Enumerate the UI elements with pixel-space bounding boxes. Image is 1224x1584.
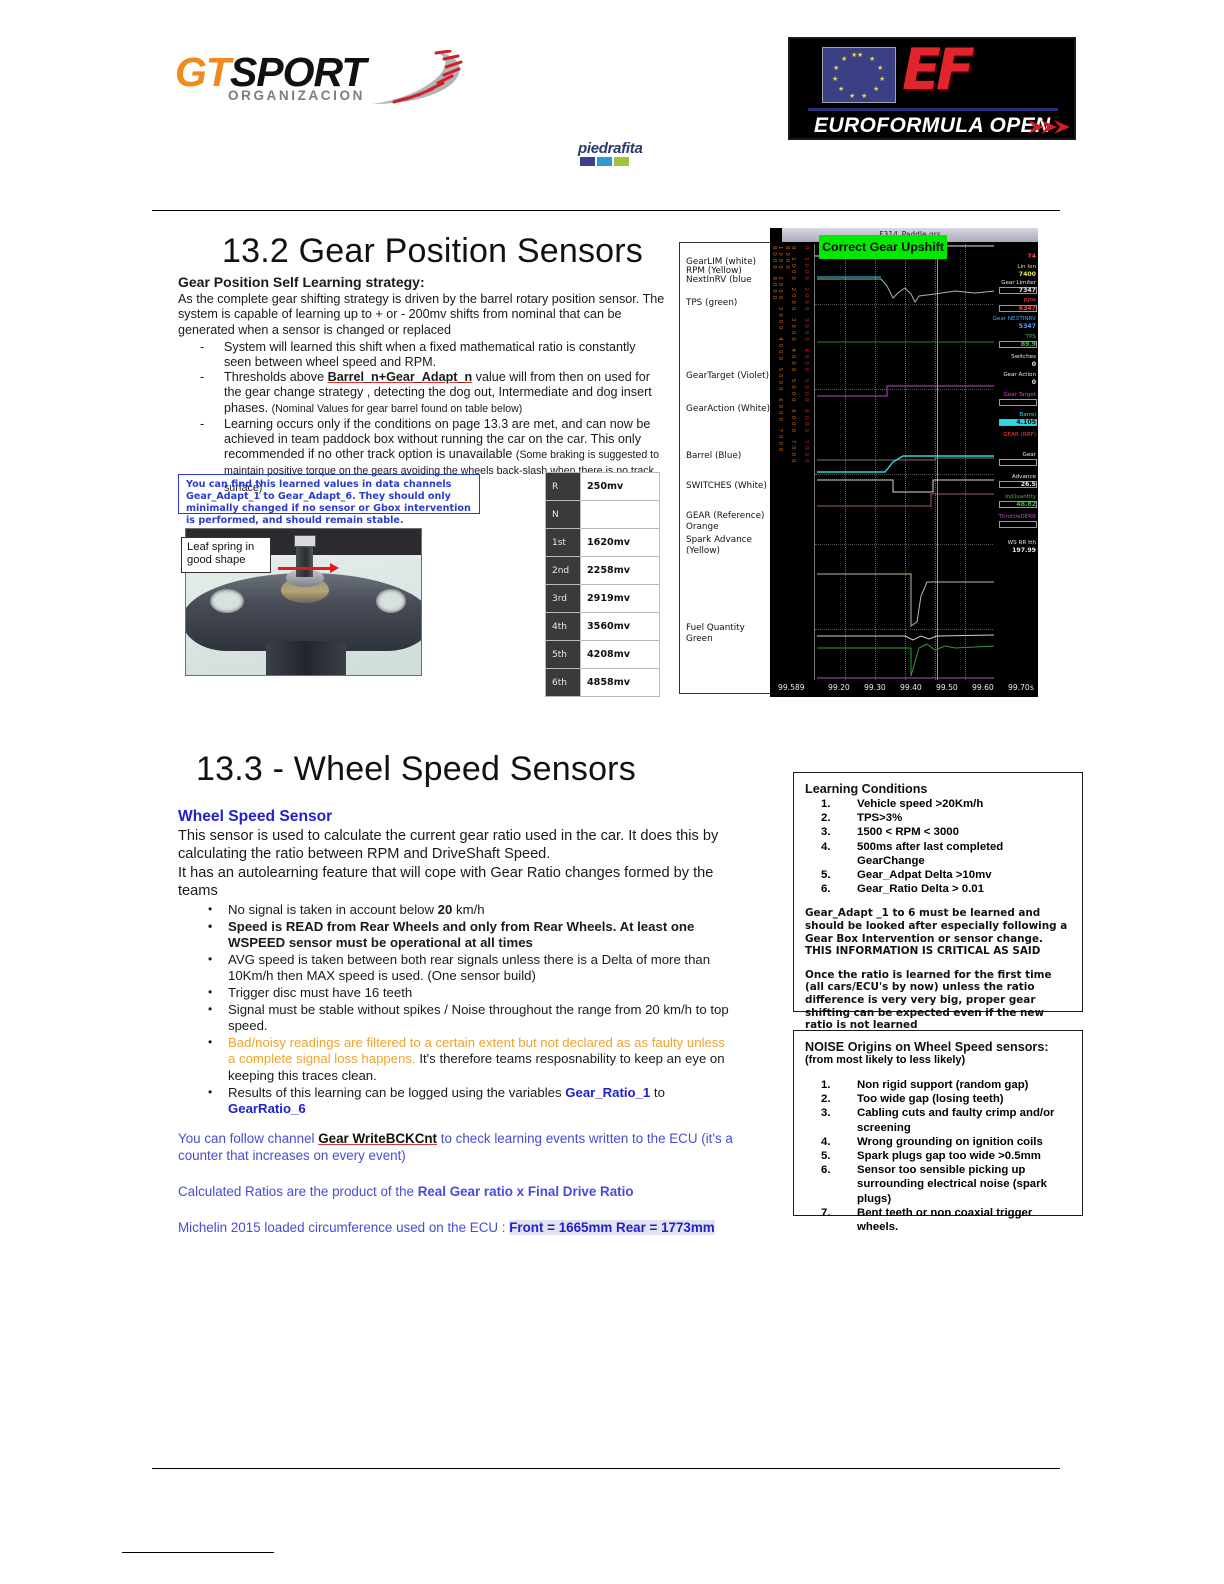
readout-value: 7347	[1019, 287, 1036, 294]
gear-voltage-cell: 1620mv	[581, 529, 660, 557]
paragraph-bckcnt: You can follow channel Gear WriteBCKCnt …	[178, 1130, 738, 1164]
piedrafita-bars	[580, 157, 631, 166]
list-number: 3.	[821, 1106, 831, 1120]
table-row: 5th4208mv	[546, 641, 660, 669]
list-number: 2.	[821, 811, 831, 825]
readout-value-box	[999, 399, 1037, 406]
correct-gear-upshift-badge: Correct Gear Upshift	[819, 235, 947, 259]
readout-value: 89.9	[1021, 341, 1036, 348]
learning-conditions-title: Learning Conditions	[805, 782, 1071, 796]
list-number: 6.	[821, 1163, 831, 1177]
gear-barrel-voltage-table: R250mvN1st1620mv2nd2258mv3rd2919mv4th356…	[545, 472, 660, 697]
wheel-speed-intro-2: It has an autolearning feature that will…	[178, 864, 730, 901]
gear-position-intro: As the complete gear shifting strategy i…	[178, 292, 666, 338]
channel-legend-item: GearTarget (Violet)	[686, 371, 769, 382]
bullet-2-paren: (Nominal Values for gear barrel found on…	[272, 403, 523, 415]
x-axis-unit-label: s	[1030, 683, 1034, 692]
list-number: 7.	[821, 1206, 831, 1220]
paragraph-michelin: Michelin 2015 loaded circumference used …	[178, 1219, 738, 1236]
channel-legend-item: SWITCHES (White)	[686, 481, 767, 492]
piedrafita-wordmark: piedrafita	[578, 140, 643, 157]
readout-value: 48.82	[1016, 501, 1036, 508]
gtsport-gt-text: GT	[175, 49, 230, 95]
b5-text: Signal must be stable without spikes / N…	[228, 1002, 729, 1034]
trace-path	[817, 480, 995, 492]
plot-area	[814, 244, 994, 680]
real-gear-ratio-term: Real Gear ratio x Final Drive Ratio	[418, 1184, 634, 1199]
gear-label-cell: 2nd	[546, 557, 581, 585]
b1-post: km/h	[452, 902, 484, 917]
channel-legend-item: Fuel QuantityGreen	[686, 623, 745, 644]
trace-path	[817, 494, 995, 506]
x-axis-tick-label: 99.589	[778, 683, 805, 692]
table-row: 2nd2258mv	[546, 557, 660, 585]
b2-text: Speed is READ from Rear Wheels and only …	[228, 919, 694, 951]
list-text: 500ms after last completed GearChange	[857, 841, 1003, 867]
p1-pre: You can follow channel	[178, 1131, 318, 1146]
section-13-2-body: Gear Position Self Learning strategy: As…	[178, 275, 666, 496]
gear-label-cell: 6th	[546, 669, 581, 697]
list-item: 2.Too wide gap (losing teeth)	[805, 1092, 1071, 1106]
table-row: 1st1620mv	[546, 529, 660, 557]
list-text: TPS>3%	[857, 812, 902, 824]
list-text: Too wide gap (losing teeth)	[857, 1093, 1004, 1105]
b1-pre: No signal is taken in account below	[228, 902, 438, 917]
eu-flag-icon: ★ ★ ★ ★ ★ ★ ★ ★ ★ ★ ★ ★	[822, 47, 896, 103]
list-item: 1.Vehicle speed >20Km/h	[805, 797, 1071, 811]
trace-path	[817, 386, 995, 396]
table-row: N	[546, 501, 660, 529]
list-text: Wrong grounding on ignition coils	[857, 1136, 1043, 1148]
readout-label: TPS	[1026, 334, 1036, 340]
list-item: 6.Gear_Ratio Delta > 0.01	[805, 882, 1071, 896]
channel-legend-item: GearAction (White)	[686, 404, 770, 415]
channel-legend-item: Spark Advance(Yellow)	[686, 535, 752, 556]
michelin-circumference-values: Front = 1665mm Rear = 1773mm	[509, 1220, 714, 1235]
table-row: 6th4858mv	[546, 669, 660, 697]
x-axis-tick-label: 99.50	[936, 683, 958, 692]
trace-path	[817, 644, 995, 676]
readout-label: Barrel	[1019, 412, 1036, 418]
sensor-mount-hole-right	[376, 589, 406, 613]
list-number: 5.	[821, 1149, 831, 1163]
learning-conditions-list: 1.Vehicle speed >20Km/h2.TPS>3%3.1500 < …	[805, 797, 1071, 896]
gear-voltage-cell: 4208mv	[581, 641, 660, 669]
readout-value: 6347	[1019, 305, 1036, 312]
readout-value-box	[999, 521, 1037, 528]
gear-adapt-note-text: You can find this learned values in data…	[186, 479, 472, 527]
footnote-divider	[122, 1552, 274, 1553]
gear-label-cell: 3rd	[546, 585, 581, 613]
gear-voltage-cell: 2258mv	[581, 557, 660, 585]
list-text: Sensor too sensible picking up surroundi…	[857, 1164, 1047, 1204]
channel-legend-item: Barrel (Blue)	[686, 451, 741, 462]
readout-label: RPM	[1024, 298, 1036, 304]
footer-divider	[152, 1468, 1060, 1469]
gtsport-organizacion-text: ORGANIZACION	[228, 88, 365, 103]
trace-path	[817, 279, 995, 302]
ef-arrows-icon	[1028, 117, 1074, 137]
readout-label: WS RR tth	[1008, 540, 1036, 546]
list-item: Trigger disc must have 16 teeth	[178, 985, 730, 1002]
noise-origins-box: NOISE Origins on Wheel Speed sensors: (f…	[793, 1030, 1083, 1216]
readout-value: 5347	[1019, 323, 1036, 330]
bullet-2-pre: Thresholds above	[224, 370, 328, 384]
list-item: Results of this learning can be logged u…	[178, 1085, 730, 1118]
piedrafita-logo: piedrafita	[578, 140, 688, 168]
b7-pre: Results of this learning can be logged u…	[228, 1085, 565, 1100]
list-item: 5.Spark plugs gap too wide >0.5mm	[805, 1149, 1071, 1163]
section-13-3-body: Wheel Speed Sensor This sensor is used t…	[178, 808, 730, 1118]
leaf-spring-callout: Leaf spring in good shape	[181, 537, 271, 573]
gtsport-logo: GTSPORT ORGANIZACION	[175, 52, 485, 112]
y-axis-tick-strip: 0 1000 2000 3000 4000 5000 6000 7000 800…	[785, 246, 796, 471]
ratio-learned-note: Once the ratio is learned for the first …	[805, 969, 1071, 1032]
barrel-gear-adapt-term: Barrel_n+Gear_Adapt_n	[328, 370, 473, 384]
gear-voltage-cell: 3560mv	[581, 613, 660, 641]
readout-value: 197.99	[1012, 547, 1036, 554]
list-item: 2.TPS>3%	[805, 811, 1071, 825]
list-number: 4.	[821, 1135, 831, 1149]
list-item: AVG speed is taken between both rear sig…	[178, 952, 730, 985]
learning-conditions-box: Learning Conditions 1.Vehicle speed >20K…	[793, 772, 1083, 1012]
gear-adapt-critical-note: Gear_Adapt _1 to 6 must be learned and s…	[805, 907, 1071, 957]
ef-monogram: EF	[902, 42, 970, 99]
list-item: 4.500ms after last completed GearChange	[805, 840, 1071, 868]
list-item: Bad/noisy readings are filtered to a cer…	[178, 1035, 730, 1085]
readout-value: 74	[1027, 253, 1036, 260]
page-header: GTSPORT ORGANIZACION piedrafita ★ ★ ★ ★	[0, 0, 1224, 205]
ef-divider	[808, 108, 1058, 111]
list-number: 4.	[821, 840, 831, 854]
piedrafita-bar-3	[614, 157, 629, 166]
channel-legend-item: NextInRV (blue	[686, 275, 752, 286]
gear-label-cell: 1st	[546, 529, 581, 557]
list-text: Vehicle speed >20Km/h	[857, 798, 983, 810]
volt-table-body: R250mvN1st1620mv2nd2258mv3rd2919mv4th356…	[546, 473, 660, 697]
list-number: 1.	[821, 797, 831, 811]
trace-path	[817, 635, 995, 640]
euroformula-open-text: EUROFORMULA OPEN	[814, 114, 1051, 138]
list-item: Signal must be stable without spikes / N…	[178, 1002, 730, 1035]
list-text: Non rigid support (random gap)	[857, 1079, 1028, 1091]
list-text: 1500 < RPM < 3000	[857, 826, 959, 838]
gear-ratio-6-var: GearRatio_6	[228, 1101, 306, 1116]
sensor-lower-stem	[266, 641, 346, 676]
leaf-spring	[294, 535, 316, 547]
x-axis-tick-label: 99.60	[972, 683, 994, 692]
section-title-13-2: 13.2 Gear Position Sensors	[222, 232, 643, 271]
gear-upshift-trace-chart: GearLIM (white)RPM (Yellow)NextInRV (blu…	[679, 228, 1038, 697]
list-text: Cabling cuts and faulty crimp and/or scr…	[857, 1107, 1054, 1133]
trace-lines	[815, 244, 995, 680]
list-item: 4.Wrong grounding on ignition coils	[805, 1135, 1071, 1149]
gear-label-cell: R	[546, 473, 581, 501]
trace-path	[817, 574, 995, 626]
readout-label: Lin Ion	[1017, 264, 1036, 270]
gear-label-cell: 5th	[546, 641, 581, 669]
readout-value: 26.5	[1021, 481, 1036, 488]
gear-adapt-note-box: You can find this learned values in data…	[178, 474, 480, 514]
wheel-speed-intro-1: This sensor is used to calculate the cur…	[178, 827, 730, 864]
sensor-mount-hole-left	[210, 589, 244, 613]
b3-text: AVG speed is taken between both rear sig…	[228, 952, 710, 984]
list-item: Speed is READ from Rear Wheels and only …	[178, 919, 730, 952]
wheel-speed-bullet-list: No signal is taken in account below 20 k…	[178, 902, 730, 1118]
list-item: 5.Gear_Adpat Delta >10mv	[805, 868, 1071, 882]
readout-value: 4.105	[1016, 419, 1036, 426]
x-axis-tick-label: 99.40	[900, 683, 922, 692]
readout-value: 0	[1032, 361, 1036, 368]
readout-label: Advance	[1012, 474, 1036, 480]
channel-legend-item: TPS (green)	[686, 298, 737, 309]
table-row: 4th3560mv	[546, 613, 660, 641]
euroformula-open-logo: ★ ★ ★ ★ ★ ★ ★ ★ ★ ★ ★ ★ EF EUROFORMULA O…	[788, 37, 1076, 140]
p3-pre: Michelin 2015 loaded circumference used …	[178, 1220, 509, 1235]
readout-label: Gear Target	[1003, 392, 1036, 398]
x-axis-tick-label: 99.70	[1008, 683, 1030, 692]
trace-path	[817, 458, 995, 460]
list-number: 1.	[821, 1078, 831, 1092]
b4-text: Trigger disc must have 16 teeth	[228, 985, 412, 1000]
gear-voltage-cell	[581, 501, 660, 529]
readout-label: Gear	[1022, 452, 1036, 458]
b7-mid: to	[650, 1085, 665, 1100]
wheel-speed-sensor-heading: Wheel Speed Sensor	[178, 808, 730, 827]
list-item: Thresholds above Barrel_n+Gear_Adapt_n v…	[178, 370, 666, 417]
gear-ratio-1-var: Gear_Ratio_1	[565, 1085, 650, 1100]
x-axis-labels: 99.58999.2099.3099.4099.5099.6099.70s	[770, 680, 1038, 697]
list-number: 3.	[821, 825, 831, 839]
y-axis-tick-strip: 1000 2000 3000 4000 5000 6000 7000 8000 …	[772, 246, 783, 471]
piedrafita-bar-2	[597, 157, 612, 166]
table-row: 3rd2919mv	[546, 585, 660, 613]
list-item: 7.Bent teeth or non coaxial trigger whee…	[805, 1206, 1071, 1234]
readout-value-box	[999, 459, 1037, 466]
readout-label: Gear Action	[1003, 372, 1036, 378]
noise-origins-subtitle: (from most likely to less likely)	[805, 1054, 1071, 1066]
list-item: System will learned this shift when a fi…	[178, 340, 666, 370]
gtsport-wordmark: GTSPORT	[175, 52, 365, 93]
gear-label-cell: N	[546, 501, 581, 529]
readout-value: 7400	[1019, 271, 1036, 278]
channel-legend-item: GEAR (Reference)Orange	[686, 511, 764, 532]
b1-bold: 20	[438, 902, 453, 917]
gtsport-swoosh-icon	[370, 50, 490, 108]
x-axis-tick-label: 99.20	[828, 683, 850, 692]
list-number: 6.	[821, 882, 831, 896]
gear-writebckcnt-term: Gear WriteBCKCnt	[318, 1131, 437, 1146]
list-item: No signal is taken in account below 20 k…	[178, 902, 730, 919]
list-text: Bent teeth or non coaxial trigger wheels…	[857, 1207, 1032, 1233]
section-13-3-paragraphs: You can follow channel Gear WriteBCKCnt …	[178, 1130, 738, 1255]
table-row: R250mv	[546, 473, 660, 501]
list-item: 1.Non rigid support (random gap)	[805, 1078, 1071, 1092]
bullet-1-text: System will learned this shift when a fi…	[224, 340, 636, 369]
readout-label: Switches	[1011, 354, 1036, 360]
gear-label-cell: 4th	[546, 613, 581, 641]
gear-voltage-cell: 2919mv	[581, 585, 660, 613]
annotation-arrow-icon	[278, 567, 332, 570]
noise-origins-list: 1.Non rigid support (random gap)2.Too wi…	[805, 1078, 1071, 1234]
readout-panel: 74Lin Ion7400Gear Limiter7347RPM6347Gear…	[994, 244, 1038, 680]
readout-label: Gear NEXTINRV	[993, 316, 1036, 322]
paragraph-calculated-ratios: Calculated Ratios are the product of the…	[178, 1183, 738, 1200]
gear-voltage-cell: 4858mv	[581, 669, 660, 697]
list-text: Spark plugs gap too wide >0.5mm	[857, 1150, 1041, 1162]
list-item: 6.Sensor too sensible picking up surroun…	[805, 1163, 1071, 1206]
readout-label: Gear Limiter	[1001, 280, 1036, 286]
x-axis-tick-label: 99.30	[864, 683, 886, 692]
scope-display: F314_Paddle.grs 1000 2000 3000 4000 5000…	[770, 228, 1038, 697]
y-axis-tick-strip: 0 1000 2000 3000 4000 5000 6000 7000	[798, 246, 809, 471]
list-item: 3.1500 < RPM < 3000	[805, 825, 1071, 839]
list-item: 3.Cabling cuts and faulty crimp and/or s…	[805, 1106, 1071, 1134]
gear-position-strategy-heading: Gear Position Self Learning strategy:	[178, 275, 666, 290]
list-text: Gear_Ratio Delta > 0.01	[857, 883, 984, 895]
list-number: 2.	[821, 1092, 831, 1106]
readout-label: InjQuantity	[1005, 494, 1036, 500]
p2-pre: Calculated Ratios are the product of the	[178, 1184, 418, 1199]
readout-value: 0	[1032, 379, 1036, 386]
list-text: Gear_Adpat Delta >10mv	[857, 869, 992, 881]
piedrafita-bar-1	[580, 157, 595, 166]
gear-voltage-cell: 250mv	[581, 473, 660, 501]
readout-label: GEAR (RRF)	[1003, 432, 1036, 438]
noise-origins-title: NOISE Origins on Wheel Speed sensors:	[805, 1040, 1071, 1054]
readout-label: ThrottleDERR	[998, 514, 1036, 520]
list-number: 5.	[821, 868, 831, 882]
section-title-13-3: 13.3 - Wheel Speed Sensors	[196, 750, 636, 789]
header-divider	[152, 210, 1060, 211]
